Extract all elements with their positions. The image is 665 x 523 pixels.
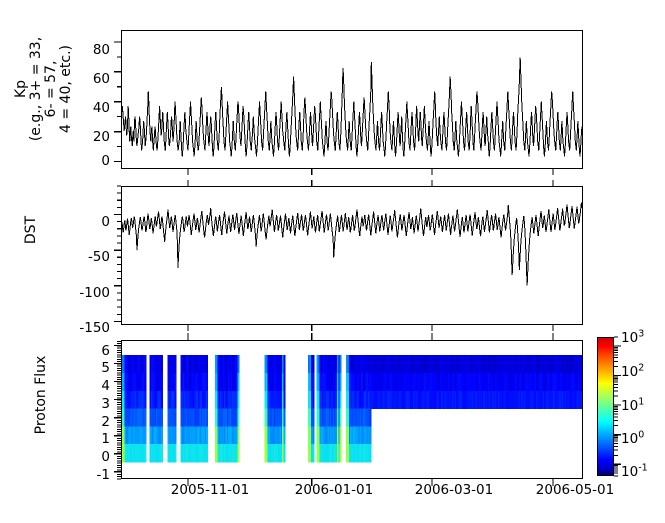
kp-panel	[121, 30, 583, 169]
cbar-exponent-3: 3	[638, 329, 644, 340]
proton-flux-heatmap	[122, 341, 582, 478]
dst-ytick-0: 0	[48, 216, 110, 230]
pf-ytick-minus1: -1	[68, 469, 110, 483]
cbar-mantissa-0: 10	[621, 431, 638, 447]
colorbar-label-1e3: 103	[621, 332, 644, 346]
colorbar-label-1e2: 102	[621, 366, 644, 380]
dst-panel	[121, 186, 583, 325]
kp-axis-title-line-2: (e.g., 3+ = 33,	[29, 14, 44, 164]
dst-plot-line	[122, 187, 582, 324]
cbar-exponent-m1: -1	[638, 463, 647, 474]
xtick-2006-03-01: 2006-03-01	[399, 484, 509, 498]
colorbar-gradient	[598, 338, 613, 475]
cbar-exponent-1: 1	[638, 397, 644, 408]
kp-axis-title-line-1: Kp	[14, 14, 29, 164]
pf-ytick-2: 2	[68, 416, 110, 430]
kp-plot-line	[122, 31, 582, 168]
colorbar-label-1em1: 10-1	[621, 466, 648, 480]
cbar-exponent-0: 0	[638, 430, 644, 441]
cbar-mantissa-1: 10	[621, 398, 638, 414]
pf-ytick-3: 3	[68, 398, 110, 412]
pf-ytick-6: 6	[68, 345, 110, 359]
cbar-mantissa-2: 10	[621, 364, 638, 380]
xtick-2006-01-01: 2006-01-01	[279, 484, 389, 498]
dst-axis-title: DST	[24, 185, 39, 275]
proton-flux-panel	[121, 340, 583, 479]
dst-ytick-minus150: -150	[48, 322, 110, 336]
cbar-mantissa-m1: 10	[621, 464, 638, 480]
kp-axis-title-line-4: 4 = 40, etc.)	[59, 14, 74, 164]
cbar-mantissa-3: 10	[621, 330, 638, 346]
colorbar-label-1e0: 100	[621, 433, 644, 447]
pf-ytick-1: 1	[68, 433, 110, 447]
cbar-exponent-2: 2	[638, 363, 644, 374]
dst-ytick-minus50: -50	[48, 251, 110, 265]
colorbar-label-1e1: 101	[621, 400, 644, 414]
figure-root: 80 60 40 20 0 Kp (e.g., 3+ = 33, 6- = 57…	[0, 0, 665, 523]
pf-ytick-5: 5	[68, 362, 110, 376]
kp-axis-title: Kp (e.g., 3+ = 33, 6- = 57, 4 = 40, etc.…	[14, 14, 74, 164]
xtick-2005-11-01: 2005-11-01	[155, 484, 265, 498]
xtick-2006-05-01: 2006-05-01	[520, 484, 630, 498]
proton-flux-axis-title: Proton Flux	[34, 335, 49, 455]
pf-ytick-0: 0	[68, 451, 110, 465]
pf-ytick-4: 4	[68, 380, 110, 394]
dst-ytick-minus100: -100	[48, 287, 110, 301]
colorbar	[597, 337, 614, 476]
kp-axis-title-line-3: 6- = 57,	[44, 14, 59, 164]
